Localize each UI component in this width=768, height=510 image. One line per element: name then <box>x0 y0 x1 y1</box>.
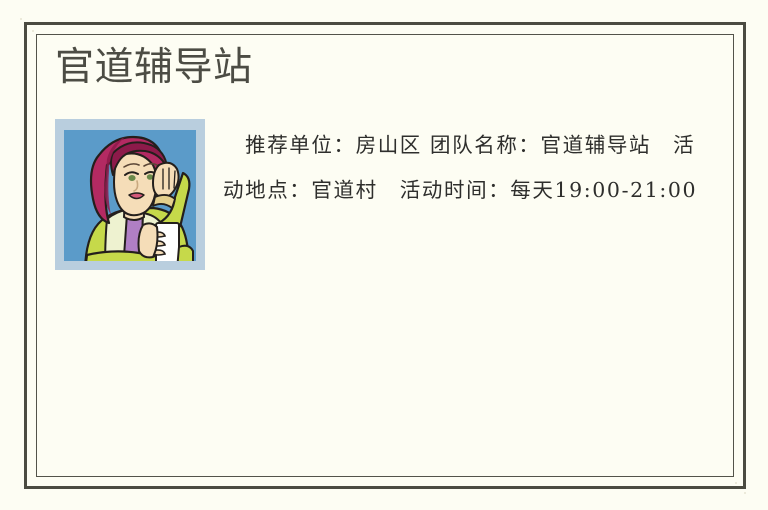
paper-speck <box>735 482 737 484</box>
paper-speck <box>32 30 34 32</box>
paper-speck <box>20 18 22 20</box>
card-content: 官道辅导站 <box>27 25 743 486</box>
paper-speck <box>744 492 746 494</box>
woman-illustration <box>55 119 205 270</box>
decorative-outer-frame: 官道辅导站 <box>24 22 746 489</box>
page-title: 官道辅导站 <box>55 47 717 89</box>
page-root: 官道辅导站 <box>0 0 768 510</box>
body-block: 推荐单位：房山区 团队名称：官道辅导站 活动地点：官道村 活动时间：每天19:0… <box>55 115 717 213</box>
